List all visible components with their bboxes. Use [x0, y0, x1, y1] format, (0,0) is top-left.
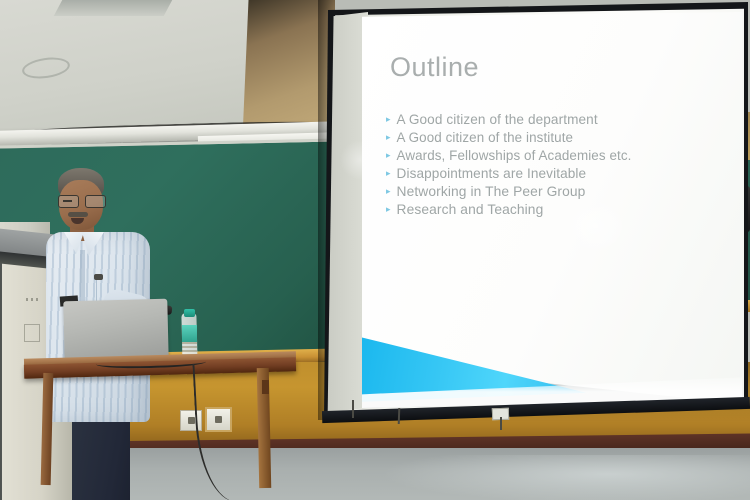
table-brace [262, 380, 269, 394]
presenter-trousers [72, 414, 130, 500]
slide-bullet-text: A Good citizen of the institute [397, 130, 574, 145]
floor-sheen [380, 455, 750, 500]
bullet-triangle-icon: ▸ [386, 187, 391, 196]
podium-control-panel [26, 298, 38, 301]
water-bottle-label [182, 325, 197, 342]
bullet-triangle-icon: ▸ [386, 133, 391, 142]
slide-title: Outline [390, 52, 479, 83]
slide-bullet-item: ▸ Networking in The Peer Group [386, 184, 716, 199]
slide-bullet-text: Research and Teaching [397, 202, 544, 217]
ceiling-mark [21, 55, 71, 81]
slide-bullet-text: Networking in The Peer Group [397, 184, 586, 199]
slide-bullet-item: ▸ Research and Teaching [386, 202, 716, 217]
water-bottle-cap [184, 309, 195, 317]
slide-bullet-item: ▸ A Good citizen of the department [386, 112, 716, 127]
podium-socket [24, 324, 40, 342]
bullet-triangle-icon: ▸ [386, 115, 391, 124]
slide-bullet-text: Awards, Fellowships of Academies etc. [397, 148, 632, 163]
glasses-bridge [63, 200, 72, 202]
presenter-lapel-mic [94, 274, 103, 280]
slide-bullet-item: ▸ Disappointments are Inevitable [386, 166, 716, 181]
slide-bullet-item: ▸ Awards, Fellowships of Academies etc. [386, 148, 716, 163]
bullet-triangle-icon: ▸ [386, 151, 391, 160]
slide-bullet-item: ▸ A Good citizen of the institute [386, 130, 716, 145]
presentation-slide: Outline ▸ A Good citizen of the departme… [362, 12, 742, 408]
screen-hook [352, 400, 354, 418]
presenter-mustache [68, 212, 88, 217]
slide-bullet-text: A Good citizen of the department [397, 112, 598, 127]
bullet-triangle-icon: ▸ [386, 169, 391, 178]
slide-bullet-list: ▸ A Good citizen of the department ▸ A G… [386, 112, 716, 220]
ceiling-vent [54, 0, 173, 16]
screen-hook [500, 417, 502, 430]
laptop [63, 299, 168, 364]
bullet-triangle-icon: ▸ [386, 205, 391, 214]
slide-bullet-text: Disappointments are Inevitable [397, 166, 587, 181]
lecture-hall-photo: Outline ▸ A Good citizen of the departme… [0, 0, 750, 500]
